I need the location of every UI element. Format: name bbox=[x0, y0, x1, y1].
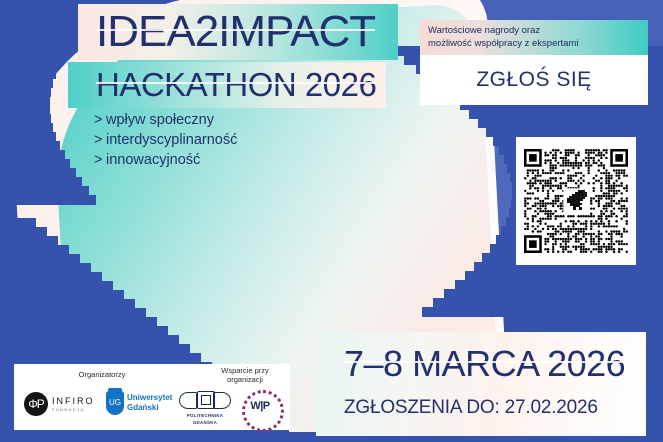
politechnika-gdanska-logo[interactable]: POLITECHNIKA GDAŃSKA bbox=[176, 390, 234, 426]
infiro-name: INFIRO bbox=[52, 397, 95, 406]
wip-mark: W|P bbox=[242, 400, 278, 412]
partners-headings: Organizatorzy Wsparcie przy organizacji bbox=[14, 364, 290, 386]
infiro-logo[interactable]: ΦP INFIRO FUNDACJA bbox=[24, 392, 95, 416]
ug-wordmark: Uniwersytet Gdański bbox=[127, 393, 172, 413]
page-title: IDEA2IMPACT bbox=[96, 6, 375, 58]
chevron-right-icon: > bbox=[94, 110, 106, 130]
signup-button[interactable]: ZGŁOŚ SIĘ bbox=[420, 55, 648, 105]
chevron-right-icon: > bbox=[94, 130, 106, 150]
trex-dinosaur-icon bbox=[563, 189, 589, 213]
infiro-wordmark: INFIRO FUNDACJA bbox=[52, 397, 95, 412]
support-heading-line-2: organizacji bbox=[210, 375, 280, 384]
uniwersytet-gdanski-logo[interactable]: UG Uniwersytet Gdański bbox=[106, 391, 172, 415]
organizers-heading: Organizatorzy bbox=[62, 370, 142, 379]
list-item: >wpływ społeczny bbox=[94, 110, 237, 130]
partners-card: Organizatorzy Wsparcie przy organizacji … bbox=[14, 364, 290, 430]
event-dates-text: 7–8 MARCA 2026 bbox=[344, 342, 625, 386]
chevron-right-icon: > bbox=[94, 150, 106, 170]
list-item: >innowacyjność bbox=[94, 150, 237, 170]
infiro-mark-glyph: ΦP bbox=[28, 398, 44, 410]
infiro-mark-icon: ΦP bbox=[24, 392, 48, 416]
feature-list: >wpływ społeczny >interdyscyplinarność >… bbox=[94, 110, 237, 170]
page-subtitle: HACKATHON 2026 bbox=[96, 64, 376, 106]
pg-name-line-1: POLITECHNIKA bbox=[176, 413, 234, 419]
ug-name-line-1: Uniwersytet bbox=[127, 393, 172, 403]
page-subtitle-text: HACKATHON 2026 bbox=[96, 64, 376, 106]
signup-button-label: ZGŁOŚ SIĘ bbox=[476, 68, 591, 92]
signup-card: Wartościowe nagrody oraz możliwość współ… bbox=[420, 20, 648, 105]
list-item-label: innowacyjność bbox=[106, 152, 200, 168]
list-item: >interdyscyplinarność bbox=[94, 130, 237, 150]
page-title-text: IDEA2IMPACT bbox=[96, 6, 375, 58]
partner-logos: ΦP INFIRO FUNDACJA UG Uniwersytet Gdańsk… bbox=[14, 386, 290, 428]
wip-logo[interactable]: W|P bbox=[242, 390, 282, 426]
support-heading-line-1: Wsparcie przy bbox=[210, 366, 280, 375]
event-dates: 7–8 MARCA 2026 bbox=[344, 342, 625, 386]
ug-shield-glyph: UG bbox=[109, 399, 121, 407]
pg-crest-icon bbox=[178, 390, 232, 412]
infiro-subtitle: FUNDACJA bbox=[52, 408, 95, 412]
list-item-label: wpływ społeczny bbox=[106, 112, 214, 128]
dates-card: 7–8 MARCA 2026 ZGŁOSZENIA DO: 27.02.2026 bbox=[316, 332, 646, 436]
qr-code-card[interactable] bbox=[516, 137, 636, 265]
support-heading: Wsparcie przy organizacji bbox=[210, 366, 280, 384]
pg-crest-wing-right bbox=[213, 392, 231, 409]
poster-canvas: IDEA2IMPACT HACKATHON 2026 >wpływ społec… bbox=[0, 0, 663, 442]
signup-card-headline: Wartościowe nagrody oraz możliwość współ… bbox=[420, 20, 648, 55]
signup-headline-line-2: możliwość współpracy z ekspertami bbox=[428, 37, 640, 50]
signup-headline-line-1: Wartościowe nagrody oraz bbox=[428, 24, 640, 37]
registration-deadline: ZGŁOSZENIA DO: 27.02.2026 bbox=[344, 396, 598, 420]
qr-code[interactable] bbox=[524, 149, 628, 253]
pg-crest-wing-left bbox=[179, 392, 197, 409]
pg-name-line-2: GDAŃSKA bbox=[176, 420, 234, 426]
ug-name-line-2: Gdański bbox=[127, 403, 172, 413]
list-item-label: interdyscyplinarność bbox=[106, 132, 237, 148]
ug-shield-icon: UG bbox=[106, 391, 124, 415]
